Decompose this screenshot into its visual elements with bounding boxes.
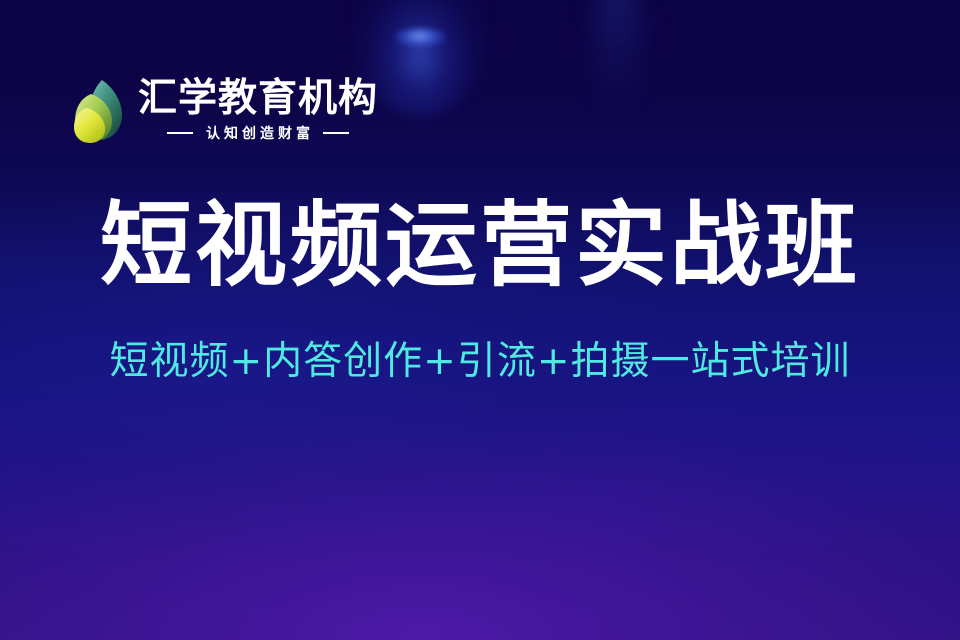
brand-lockup: 汇学教育机构 认知创造财富	[72, 78, 378, 144]
background-light-streak	[595, 0, 639, 120]
background-light-spot	[420, 38, 422, 40]
tagline-rule-left	[167, 132, 193, 134]
tagline-rule-right	[323, 132, 349, 134]
page-title: 短视频运营实战班	[0, 196, 960, 295]
leaf-logo-icon	[72, 78, 124, 144]
brand-tagline: 认知创造财富	[138, 123, 378, 143]
tagline-text: 认知创造财富	[202, 123, 314, 143]
page-subtitle: 短视频+内答创作+引流+拍摄一站式培训	[0, 339, 960, 386]
light-spot-core	[394, 28, 446, 48]
promo-poster: 汇学教育机构 认知创造财富 短视频运营实战班 短视频+内答创作+引流+拍摄一站式…	[0, 0, 960, 640]
background-purple-bloom	[0, 384, 960, 640]
brand-text-block: 汇学教育机构 认知创造财富	[138, 79, 378, 143]
brand-name: 汇学教育机构	[138, 79, 378, 119]
